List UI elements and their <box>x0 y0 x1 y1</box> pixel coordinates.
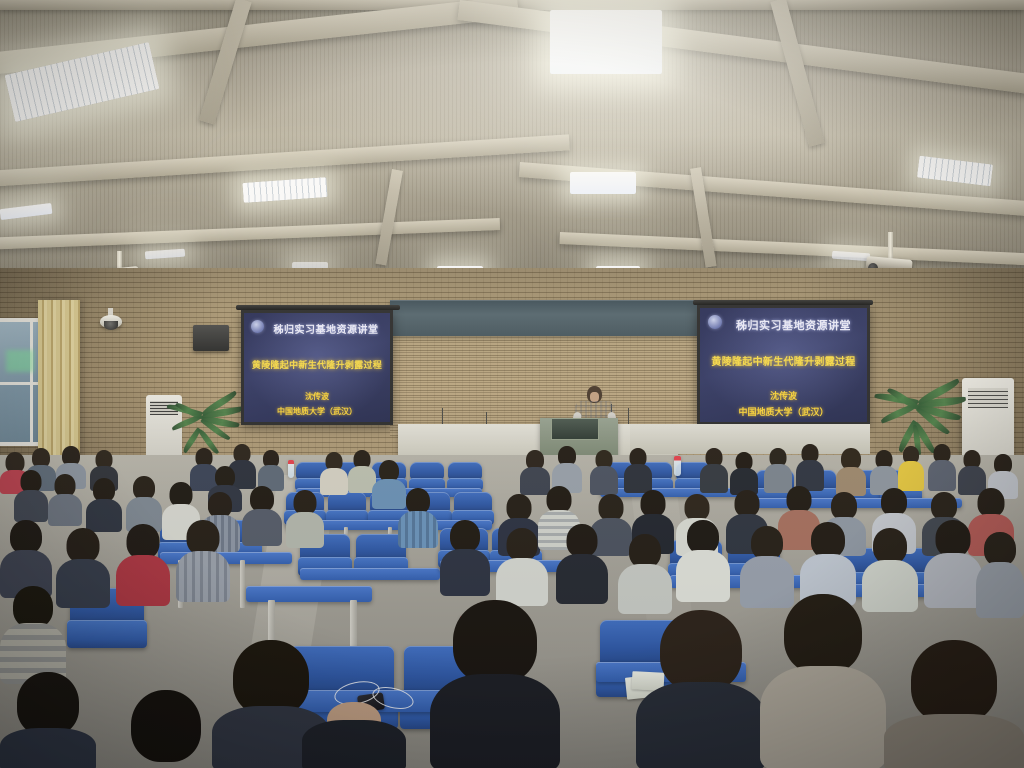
audience-member-foreground <box>0 672 96 768</box>
audience-member <box>398 488 438 546</box>
slide-speaker: 沈传波 <box>248 391 386 402</box>
water-bottle <box>288 460 294 478</box>
slide-header: 秭归实习基地资源讲堂 <box>248 324 386 338</box>
wall-speaker-icon <box>193 325 229 351</box>
ceiling-light <box>550 10 662 74</box>
ceiling-light <box>570 172 636 194</box>
water-bottle <box>674 456 681 476</box>
audience-member <box>0 520 52 596</box>
audience-member <box>700 448 728 492</box>
audience-member <box>496 528 548 604</box>
audience-member <box>258 450 284 490</box>
audience-member <box>898 446 924 490</box>
audience-member-foreground <box>760 594 886 768</box>
slide-content-right: 秭归实习基地资源讲堂 黄陵隆起中新生代隆升剥露过程 沈传波 中国地质大学（武汉）… <box>700 308 867 422</box>
seat-desk <box>300 568 440 580</box>
audience-member <box>618 534 672 612</box>
audience-member <box>440 520 490 594</box>
audience-member-foreground <box>430 600 560 768</box>
audience-member <box>836 448 866 494</box>
audience-member <box>928 444 956 490</box>
audience-member <box>924 520 982 606</box>
audience-member <box>320 452 348 494</box>
dome-camera-lens-icon <box>104 321 118 330</box>
projector-mount-pole <box>888 232 893 260</box>
audience-member <box>242 486 282 544</box>
ac-vent <box>968 388 1008 408</box>
projector-mount-pole <box>117 251 122 269</box>
audience-member <box>796 444 824 490</box>
window-curtain <box>38 300 80 465</box>
seat-leg <box>240 560 245 608</box>
audience-member <box>556 524 608 602</box>
lectern-monitor <box>551 418 599 440</box>
audience-member <box>48 474 82 524</box>
slide-header: 秭归实习基地资源讲堂 <box>704 319 863 334</box>
audience-member <box>116 524 170 604</box>
projection-screen-right: 秭归实习基地资源讲堂 黄陵隆起中新生代隆升剥露过程 沈传波 中国地质大学（武汉）… <box>697 305 870 425</box>
audience-member-foreground <box>112 690 220 768</box>
slide-affiliation: 中国地质大学（武汉） <box>248 406 386 417</box>
audience-member-foreground <box>302 694 406 768</box>
slide-content-left: 秭归实习基地资源讲堂 黄陵隆起中新生代隆升剥露过程 沈传波 中国地质大学（武汉）… <box>244 313 390 422</box>
lecture-hall-photo: 秭归实习基地资源讲堂 黄陵隆起中新生代隆升剥露过程 沈传波 中国地质大学（武汉）… <box>0 0 1024 768</box>
audience-member <box>676 520 730 600</box>
slide-title: 黄陵隆起中新生代隆升剥露过程 <box>704 356 863 369</box>
audience-member <box>126 476 162 530</box>
window-glow <box>6 350 34 372</box>
audience-member <box>590 450 618 494</box>
stage-table <box>630 424 870 454</box>
ceiling <box>0 0 1024 300</box>
audience-member-foreground <box>884 640 1024 768</box>
slide-date: 二0一八年八月 <box>248 423 386 425</box>
slide-affiliation: 中国地质大学（武汉） <box>704 406 863 418</box>
audience-member <box>800 522 856 604</box>
audience-member <box>730 452 758 494</box>
slide-title: 黄陵隆起中新生代隆升剥露过程 <box>248 359 386 371</box>
audience-member-foreground <box>636 610 766 768</box>
audience-member <box>86 478 122 530</box>
audience-member <box>286 490 324 546</box>
audience-member <box>976 532 1024 616</box>
projection-screen-left: 秭归实习基地资源讲堂 黄陵隆起中新生代隆升剥露过程 沈传波 中国地质大学（武汉）… <box>241 310 393 425</box>
audience-member <box>14 470 48 520</box>
slide-speaker: 沈传波 <box>704 390 863 402</box>
audience-member <box>0 586 66 682</box>
audience-member <box>624 448 652 492</box>
audience-member <box>176 520 230 600</box>
